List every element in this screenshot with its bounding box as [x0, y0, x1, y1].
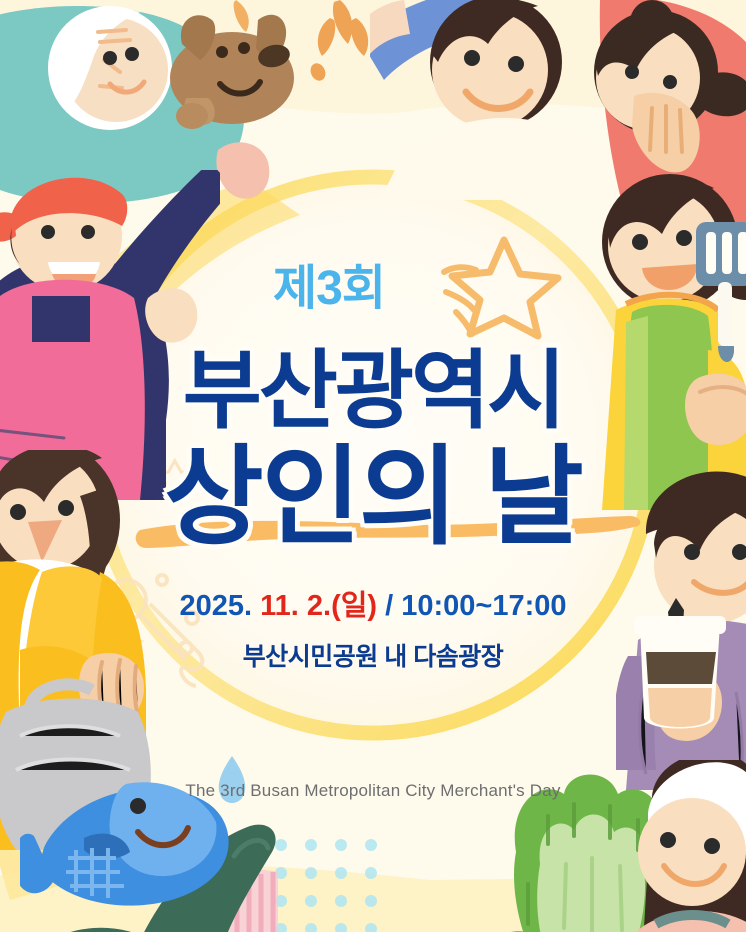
illustration-vendor-with-cabbage — [456, 760, 746, 932]
decor-hand-drawn-star — [440, 230, 570, 340]
decor-brush-underline — [132, 508, 652, 558]
fish-icon — [20, 782, 229, 905]
water-droplet-icon — [219, 756, 246, 803]
iced-drink-icon — [634, 598, 726, 729]
event-poster: 제3회 부산광역시 상인의 날 2025. 11. 2.(일) / 10:00~… — [0, 0, 746, 932]
dog-icon — [170, 15, 294, 129]
illustration-cook-with-spatula — [586, 170, 746, 510]
vendor-figure — [632, 760, 746, 932]
illustration-fish-in-glove — [20, 740, 310, 932]
